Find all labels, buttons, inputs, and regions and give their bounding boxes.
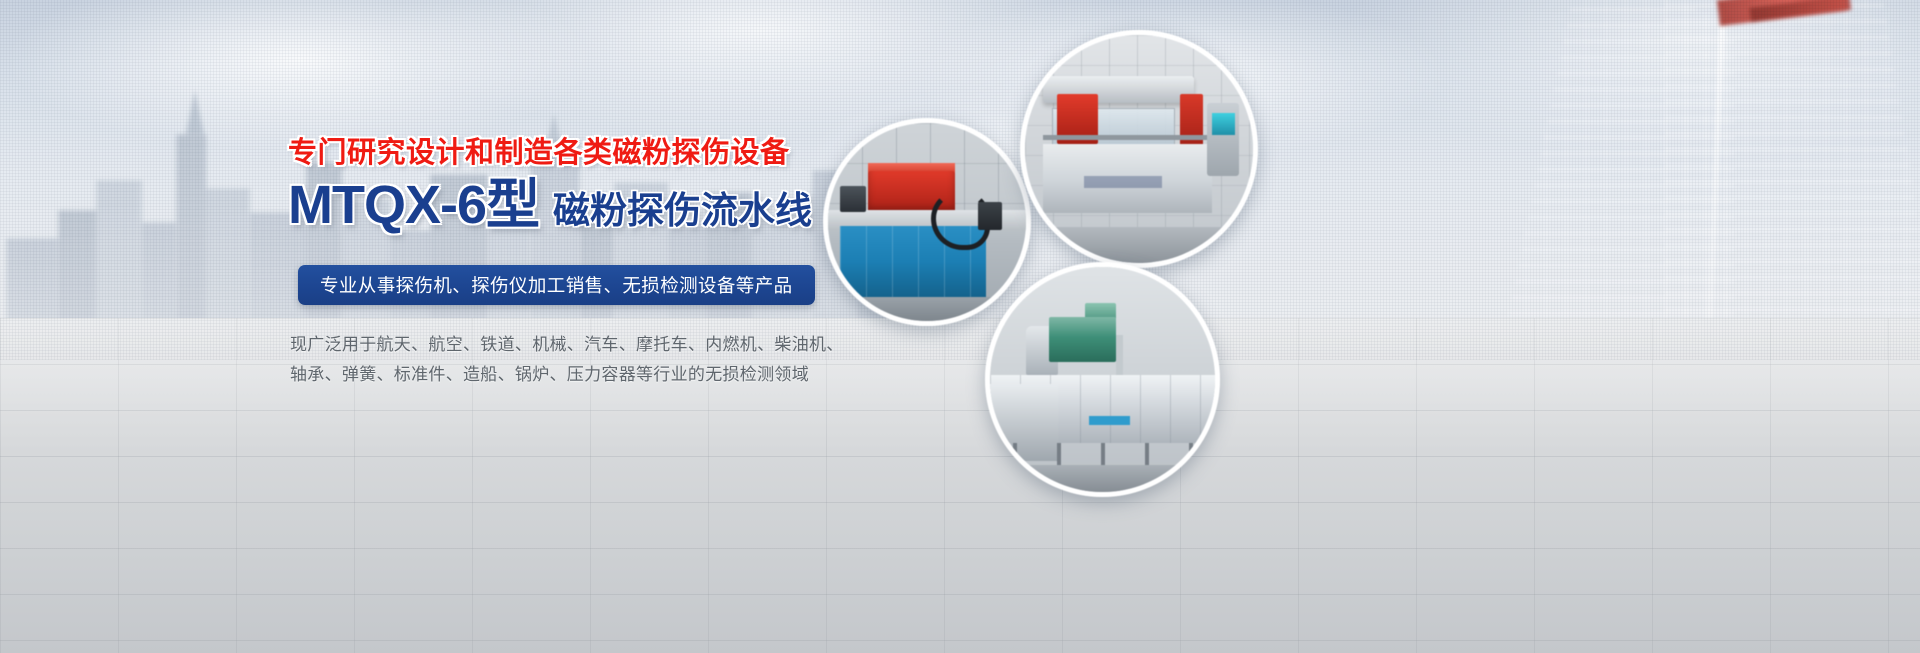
banner-text-column: 专门研究设计和制造各类磁粉探伤设备 MTQX-6型 磁粉探伤流水线 专业从事探伤…	[0, 0, 860, 653]
application-description-line-1: 现广泛用于航天、航空、铁道、机械、汽车、摩托车、内燃机、柴油机、	[290, 330, 844, 355]
application-description-line-2: 轴承、弹簧、标准件、造船、锅炉、压力容器等行业的无损检测领域	[290, 360, 809, 385]
promo-banner: 专门研究设计和制造各类磁粉探伤设备 MTQX-6型 磁粉探伤流水线 专业从事探伤…	[0, 0, 1920, 653]
product-name-text: 磁粉探伤流水线	[553, 192, 812, 232]
banner-title: MTQX-6型 磁粉探伤流水线	[288, 178, 812, 232]
photo-content	[990, 267, 1215, 492]
product-model-text: MTQX-6型	[288, 178, 539, 232]
business-scope-label: 专业从事探伤机、探伤仪加工销售、无损检测设备等产品	[320, 272, 793, 298]
business-scope-pill[interactable]: 专业从事探伤机、探伤仪加工销售、无损检测设备等产品	[298, 265, 815, 305]
photo-content	[1025, 35, 1253, 263]
photo-circle-inspection-production-line	[985, 262, 1220, 497]
banner-headline: 专门研究设计和制造各类磁粉探伤设备	[288, 129, 790, 171]
photo-circle-inspection-booth-stainless	[1020, 30, 1258, 268]
